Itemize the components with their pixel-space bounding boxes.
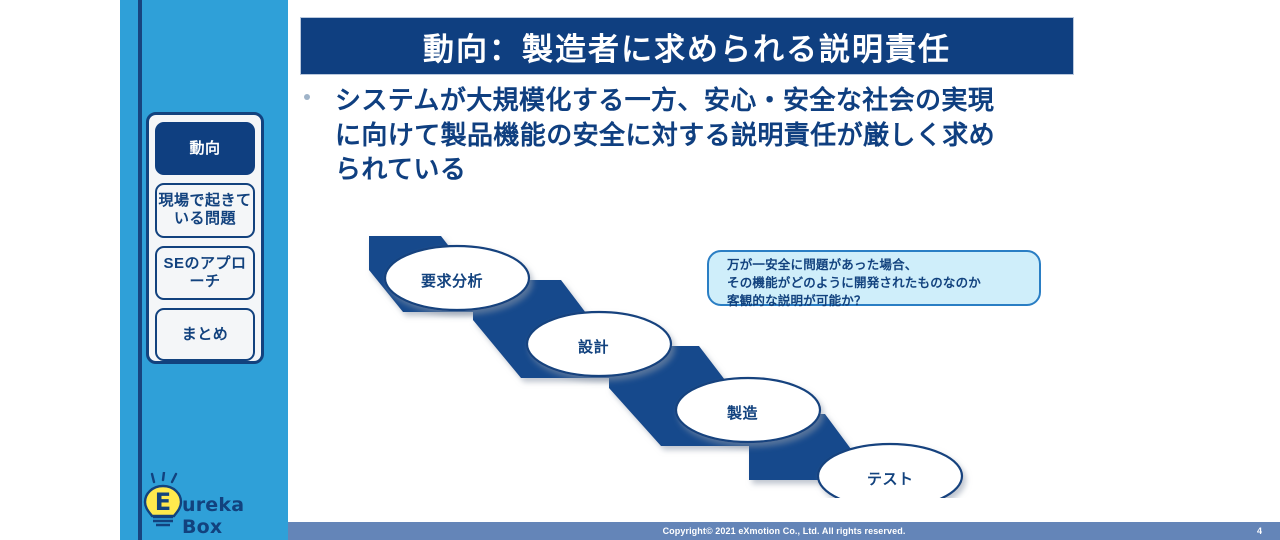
slide-canvas: 動向 現場で起きている問題 SEのアプローチ まとめ 動向：製造者に求められる説… <box>0 0 1280 540</box>
flow-step-label-1: 要求分析 <box>421 270 483 291</box>
page-title: 動向：製造者に求められる説明責任 <box>423 24 951 69</box>
sidebar-item-se-approach[interactable]: SEのアプローチ <box>155 246 255 301</box>
bulb-rays-icon <box>152 472 176 482</box>
callout-line: 客観的な説明が可能か？ <box>727 293 1025 311</box>
slide-title-bar: 動向：製造者に求められる説明責任 <box>300 17 1074 75</box>
callout-line: その機能がどのように開発されたものなのか <box>727 275 1025 293</box>
sidebar-item-label: 現場で起きている問題 <box>157 192 253 227</box>
sidebar-item-label: 動向 <box>189 140 220 158</box>
body-line: システムが大規模化する一方、安心・安全な社会の実現 <box>335 83 1065 118</box>
sidebar-item-label: SEのアプローチ <box>157 255 253 290</box>
sidebar-item-genba-problem[interactable]: 現場で起きている問題 <box>155 183 255 238</box>
sidebar-item-matome[interactable]: まとめ <box>155 308 255 361</box>
body-line: られている <box>335 152 1065 187</box>
flow-step-label-3: 製造 <box>727 402 758 423</box>
slide-body-text: システムが大規模化する一方、安心・安全な社会の実現 に向けて製品機能の安全に対す… <box>335 83 1065 187</box>
left-panel-accent-stripe <box>138 0 142 540</box>
bulb-initial-letter: E <box>155 488 171 516</box>
copyright-text: Copyright© 2021 eXmotion Co., Ltd. All r… <box>288 522 1280 540</box>
body-line: に向けて製品機能の安全に対する説明責任が厳しく求め <box>335 118 1065 153</box>
eureka-box-logo: E ureka Box <box>140 472 290 534</box>
callout-line: 万が一安全に問題があった場合、 <box>727 257 1025 275</box>
sidebar-item-label: まとめ <box>182 326 229 344</box>
footer-bar: Copyright© 2021 eXmotion Co., Ltd. All r… <box>288 522 1280 540</box>
flow-step-label-2: 設計 <box>578 336 609 357</box>
bullet-dot-icon <box>304 94 310 100</box>
sidebar-item-doukou[interactable]: 動向 <box>155 122 255 175</box>
sidebar-nav: 動向 現場で起きている問題 SEのアプローチ まとめ <box>146 112 264 364</box>
callout-box: 万が一安全に問題があった場合、 その機能がどのように開発されたものなのか 客観的… <box>707 250 1041 306</box>
flow-step-label-4: テスト <box>867 468 914 489</box>
bulb-base-icon <box>153 517 173 525</box>
page-number: 4 <box>1257 522 1262 540</box>
logo-wordmark: ureka Box <box>182 494 290 538</box>
